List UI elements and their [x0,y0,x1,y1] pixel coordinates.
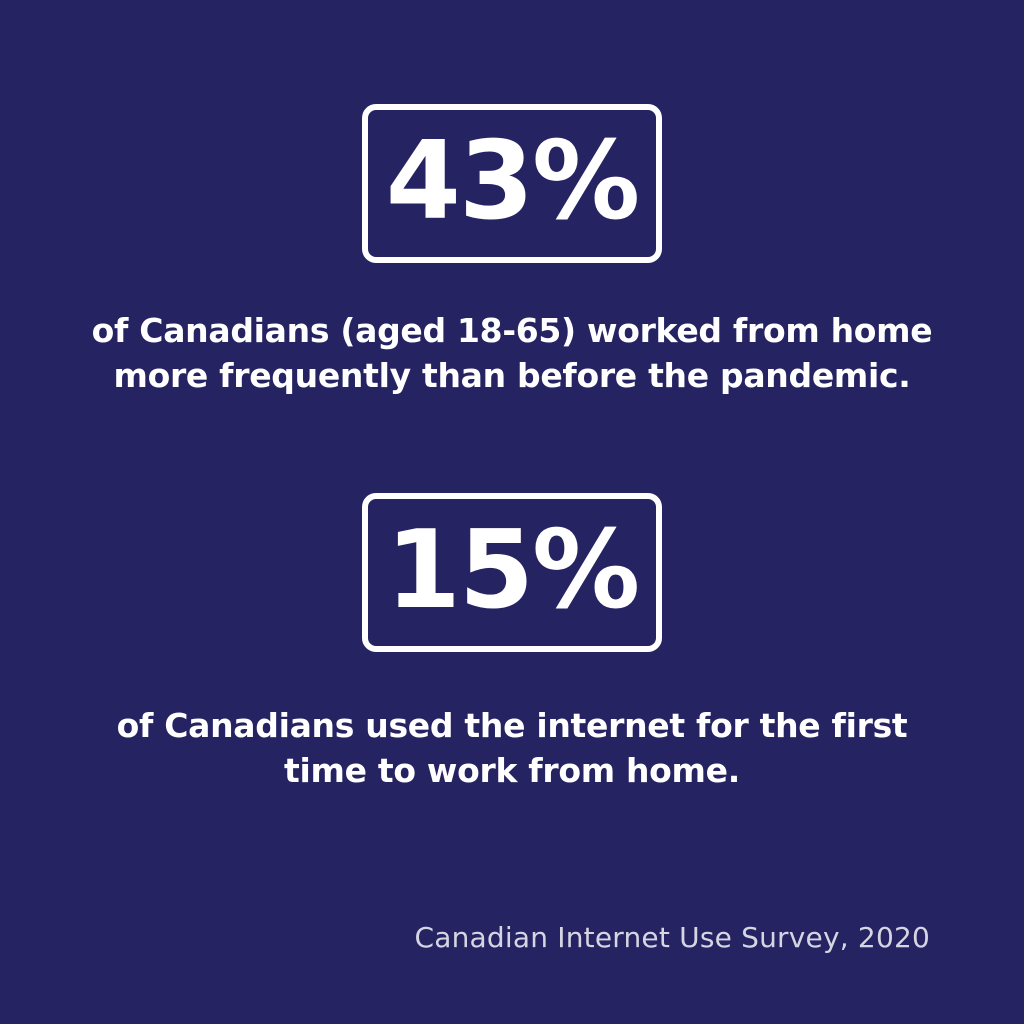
stat-value-1: 43% [386,128,639,236]
stat-box-1: 43% [362,104,662,263]
source-note: Canadian Internet Use Survey, 2020 [414,921,930,955]
stat-box-2: 15% [362,493,662,652]
stat-caption-1: of Canadians (aged 18-65) worked from ho… [72,309,952,399]
infographic-canvas: 43% of Canadians (aged 18-65) worked fro… [0,0,1024,1024]
stat-caption-2: of Canadians used the internet for the f… [82,704,942,794]
stat-value-2: 15% [386,517,639,625]
stat-block-1: 43% of Canadians (aged 18-65) worked fro… [0,104,1024,399]
stat-block-2: 15% of Canadians used the internet for t… [0,493,1024,794]
